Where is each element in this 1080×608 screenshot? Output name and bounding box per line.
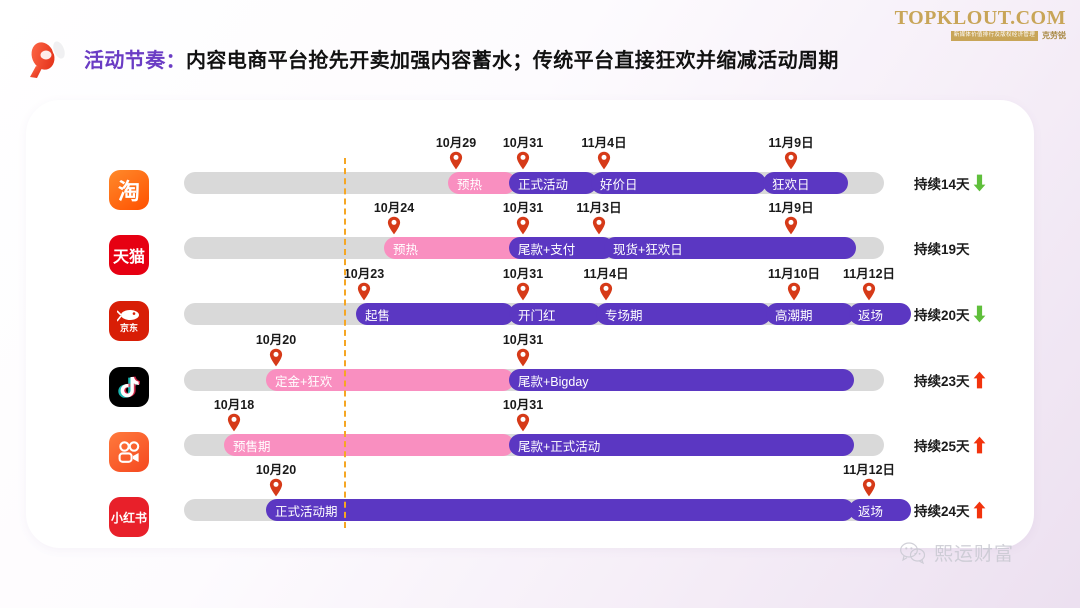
pin-date-label: 10月31 xyxy=(495,263,551,282)
duration-text: 持续19天 xyxy=(914,238,970,258)
segment-label: 专场期 xyxy=(605,305,643,324)
segment-label: 尾款+正式活动 xyxy=(518,436,600,455)
pin-date-label: 10月24 xyxy=(366,197,422,216)
timeline-segment[interactable]: 正式活动期 xyxy=(266,499,854,521)
segment-label: 预热 xyxy=(457,174,482,193)
page-title: 活动节奏：内容电商平台抢先开卖加强内容蓄水；传统平台直接狂欢并缩减活动周期 xyxy=(26,36,839,80)
logo-brand-cn: 克劳锐 xyxy=(1042,32,1066,40)
timeline-segment[interactable]: 尾款+正式活动 xyxy=(509,434,854,456)
pin-date-label: 11月3日 xyxy=(571,197,627,216)
timeline-segment[interactable]: 高潮期 xyxy=(766,303,854,325)
timeline-segment[interactable]: 返场 xyxy=(849,303,911,325)
pin-date-label: 10月20 xyxy=(248,329,304,348)
segment-label: 预售期 xyxy=(233,436,271,455)
pin-date-label: 11月12日 xyxy=(841,459,897,478)
map-pin-icon xyxy=(592,216,606,235)
pin-date-label: 11月10日 xyxy=(766,263,822,282)
segment-label: 返场 xyxy=(858,501,883,520)
pin-date-label: 10月31 xyxy=(495,329,551,348)
jd-icon: 京东 xyxy=(109,301,149,341)
segment-label: 返场 xyxy=(858,305,883,324)
map-pin-icon xyxy=(597,151,611,170)
segment-label: 好价日 xyxy=(600,174,638,193)
timeline-segment[interactable]: 现货+狂欢日 xyxy=(604,237,856,259)
xiaohongshu-icon: 小红书 xyxy=(109,497,149,537)
segment-label: 尾款+Bigday xyxy=(518,371,589,390)
title-body: 内容电商平台抢先开卖加强内容蓄水；传统平台直接狂欢并缩减活动周期 xyxy=(186,50,839,72)
duration-label: 持续19天 xyxy=(914,238,970,258)
map-pin-icon xyxy=(516,413,530,432)
duration-text: 持续25天 xyxy=(914,435,970,455)
arrow-down-icon xyxy=(973,305,986,323)
segment-label: 预热 xyxy=(393,239,418,258)
duration-text: 持续14天 xyxy=(914,173,970,193)
map-pin-icon xyxy=(516,151,530,170)
map-pin-icon xyxy=(862,282,876,301)
tmall-icon: 天猫 xyxy=(109,235,149,275)
segment-label: 现货+狂欢日 xyxy=(613,239,683,258)
topklout-logo: TOPKLOUT.COM 新媒体价值排行及版权经济管理 克劳锐 xyxy=(895,8,1066,41)
wechat-icon xyxy=(900,542,926,564)
timeline-segment[interactable]: 尾款+Bigday xyxy=(509,369,854,391)
timeline-card: 淘预热正式活动好价日狂欢日10月2910月3111月4日11月9日持续14天天猫… xyxy=(26,100,1034,548)
segment-label: 开门红 xyxy=(518,305,556,324)
map-pin-icon xyxy=(227,413,241,432)
taobao-icon: 淘 xyxy=(109,170,149,210)
timeline-segment[interactable]: 狂欢日 xyxy=(763,172,848,194)
timeline-segment[interactable]: 预热 xyxy=(448,172,516,194)
map-pin-icon xyxy=(269,478,283,497)
pin-date-label: 11月9日 xyxy=(763,197,819,216)
segment-label: 正式活动 xyxy=(518,174,568,193)
timeline-segment[interactable]: 尾款+支付 xyxy=(509,237,614,259)
map-pin-icon xyxy=(599,282,613,301)
pin-date-label: 10月18 xyxy=(206,394,262,413)
segment-label: 高潮期 xyxy=(775,305,813,324)
logo-subtitle: 新媒体价值排行及版权经济管理 xyxy=(951,31,1038,41)
watermark-text: 熙运财富 xyxy=(934,539,1014,566)
pin-date-label: 11月4日 xyxy=(576,132,632,151)
arrow-up-icon xyxy=(973,501,986,519)
map-pin-icon xyxy=(784,151,798,170)
timeline-segment[interactable]: 好价日 xyxy=(591,172,766,194)
duration-label: 持续25天 xyxy=(914,435,986,455)
duration-text: 持续20天 xyxy=(914,304,970,324)
logo-wordmark: TOPKLOUT.COM xyxy=(895,8,1066,28)
map-pin-icon xyxy=(269,348,283,367)
timeline-row: 小红书正式活动期返场10月2011月12日持续24天 xyxy=(26,477,1034,543)
timeline-segment[interactable]: 预售期 xyxy=(224,434,514,456)
pin-date-label: 10月29 xyxy=(428,132,484,151)
map-pin-icon xyxy=(862,478,876,497)
megaphone-icon xyxy=(26,36,72,80)
map-pin-icon xyxy=(787,282,801,301)
arrow-up-icon xyxy=(973,371,986,389)
segment-label: 定金+狂欢 xyxy=(275,371,332,390)
timeline-segment[interactable]: 专场期 xyxy=(596,303,771,325)
map-pin-icon xyxy=(516,348,530,367)
segment-label: 正式活动期 xyxy=(275,501,338,520)
pin-date-label: 11月9日 xyxy=(763,132,819,151)
watermark: 熙运财富 xyxy=(900,539,1014,566)
douyin-icon xyxy=(109,367,149,407)
duration-label: 持续20天 xyxy=(914,304,986,324)
today-dashed-line xyxy=(344,158,346,528)
map-pin-icon xyxy=(387,216,401,235)
timeline-segment[interactable]: 开门红 xyxy=(509,303,601,325)
page-header: TOPKLOUT.COM 新媒体价值排行及版权经济管理 克劳锐 活动节奏：内容电… xyxy=(0,0,1080,96)
duration-text: 持续24天 xyxy=(914,500,970,520)
duration-label: 持续24天 xyxy=(914,500,986,520)
title-label: 活动节奏： xyxy=(84,50,186,72)
timeline-segment[interactable]: 正式活动 xyxy=(509,172,597,194)
segment-label: 狂欢日 xyxy=(772,174,810,193)
duration-label: 持续14天 xyxy=(914,173,986,193)
pin-date-label: 10月31 xyxy=(495,132,551,151)
timeline-segment[interactable]: 定金+狂欢 xyxy=(266,369,514,391)
map-pin-icon xyxy=(516,282,530,301)
timeline-segment[interactable]: 起售 xyxy=(356,303,514,325)
kuaishou-icon xyxy=(109,432,149,472)
segment-label: 尾款+支付 xyxy=(518,239,575,258)
pin-date-label: 10月20 xyxy=(248,459,304,478)
map-pin-icon xyxy=(449,151,463,170)
arrow-up-icon xyxy=(973,436,986,454)
map-pin-icon xyxy=(516,216,530,235)
arrow-down-icon xyxy=(973,174,986,192)
pin-date-label: 10月31 xyxy=(495,197,551,216)
map-pin-icon xyxy=(357,282,371,301)
pin-date-label: 10月31 xyxy=(495,394,551,413)
duration-label: 持续23天 xyxy=(914,370,986,390)
pin-date-label: 11月4日 xyxy=(578,263,634,282)
pin-date-label: 11月12日 xyxy=(841,263,897,282)
timeline-segment[interactable]: 返场 xyxy=(849,499,911,521)
map-pin-icon xyxy=(784,216,798,235)
duration-text: 持续23天 xyxy=(914,370,970,390)
segment-label: 起售 xyxy=(365,305,390,324)
